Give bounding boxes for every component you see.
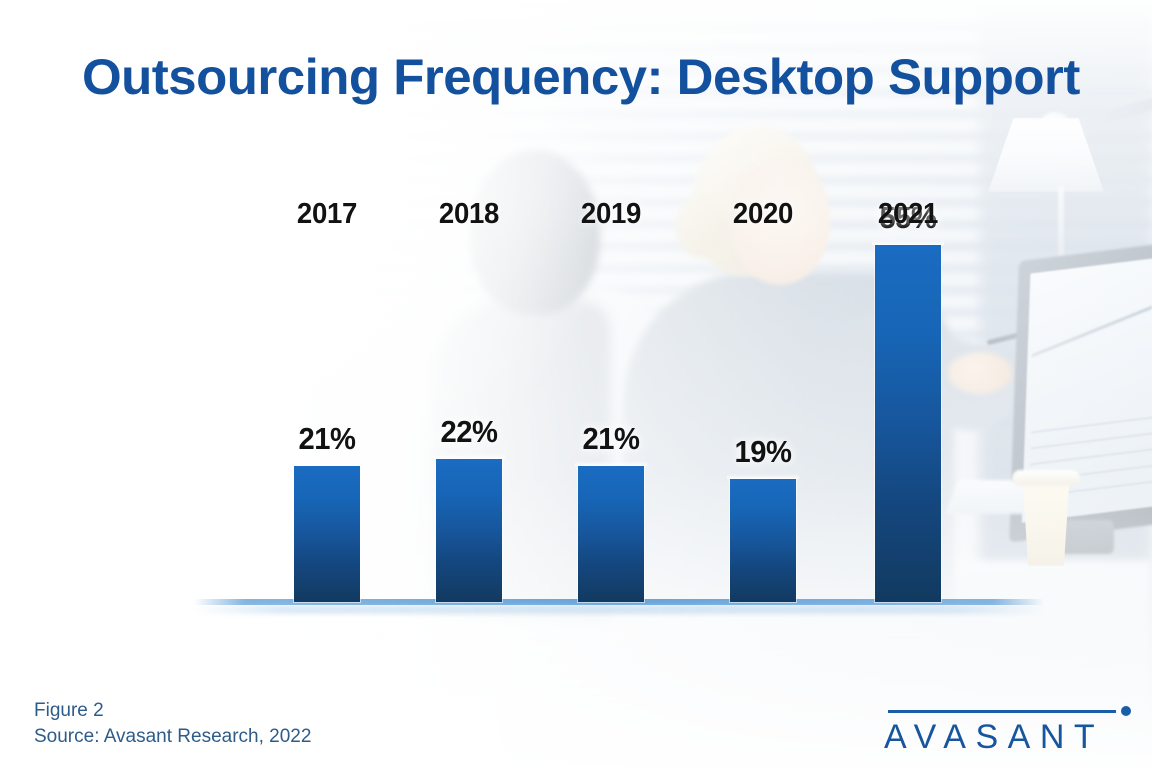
figure-source: Source: Avasant Research, 2022	[34, 724, 311, 750]
avasant-logo: AVASANT	[884, 706, 1138, 758]
photo-white-wash-corner	[0, 0, 1152, 768]
footer-caption: Figure 2 Source: Avasant Research, 2022	[34, 698, 311, 750]
background-photo	[0, 0, 1152, 768]
logo-wordmark: AVASANT	[884, 718, 1138, 757]
logo-dot-icon	[1121, 706, 1131, 716]
logo-rule	[888, 710, 1116, 713]
slide-canvas: Outsourcing Frequency: Desktop Support 2…	[0, 0, 1152, 768]
figure-number: Figure 2	[34, 698, 311, 724]
page-title: Outsourcing Frequency: Desktop Support	[82, 50, 1112, 105]
